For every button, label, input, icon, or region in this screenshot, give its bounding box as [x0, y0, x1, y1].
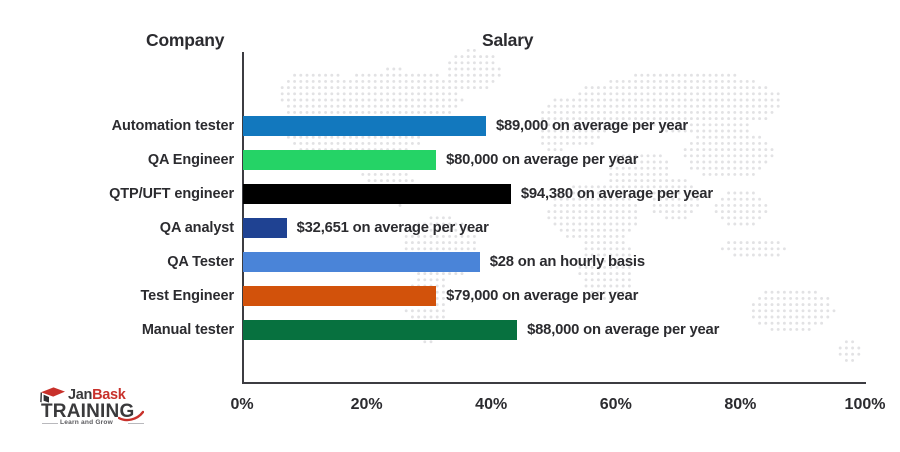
column-header-salary: Salary	[482, 30, 533, 51]
row-label-qa-tester: QA Tester	[167, 245, 234, 279]
bar-value-label: $89,000 on average per year	[496, 109, 688, 143]
logo-swoosh-icon	[118, 410, 144, 422]
bar-value-label: $32,651 on average per year	[297, 211, 489, 245]
table-row: Automation tester$89,000 on average per …	[0, 109, 900, 143]
bar-test-engineer	[243, 286, 436, 306]
row-label-manual-tester: Manual tester	[142, 313, 234, 347]
table-row: Test Engineer$79,000 on average per year	[0, 279, 900, 313]
x-tick-80: 80%	[724, 396, 756, 414]
row-label-automation-tester: Automation tester	[112, 109, 234, 143]
bar-value-label: $79,000 on average per year	[446, 279, 638, 313]
row-label-qa-analyst: QA analyst	[160, 211, 234, 245]
table-row: QTP/UFT engineer$94,380 on average per y…	[0, 177, 900, 211]
logo-tagline-rule-left	[42, 423, 58, 424]
salary-bar-chart: Company Salary Automation tester$89,000 …	[0, 0, 900, 452]
x-axis-line	[242, 382, 866, 384]
row-label-test-engineer: Test Engineer	[140, 279, 234, 313]
bar-value-label: $94,380 on average per year	[521, 177, 713, 211]
bar-value-label: $88,000 on average per year	[527, 313, 719, 347]
row-label-qtp-uft-engineer: QTP/UFT engineer	[109, 177, 234, 211]
table-row: QA Engineer$80,000 on average per year	[0, 143, 900, 177]
x-tick-20: 20%	[351, 396, 383, 414]
bar-qtp-uft-engineer	[243, 184, 511, 204]
logo-tagline: Learn and Grow	[60, 419, 113, 426]
bar-automation-tester	[243, 116, 486, 136]
bar-qa-tester	[243, 252, 480, 272]
x-tick-60: 60%	[600, 396, 632, 414]
table-row: Manual tester$88,000 on average per year	[0, 313, 900, 347]
bar-value-label: $28 on an hourly basis	[490, 245, 645, 279]
row-label-qa-engineer: QA Engineer	[148, 143, 234, 177]
x-tick-0: 0%	[230, 396, 253, 414]
bar-qa-analyst	[243, 218, 287, 238]
logo-tagline-rule-right	[128, 423, 144, 424]
table-row: QA analyst$32,651 on average per year	[0, 211, 900, 245]
column-header-company: Company	[146, 30, 224, 51]
janbask-training-logo[interactable]: JanBask TRAINING Learn and Grow	[40, 386, 148, 430]
table-row: QA Tester$28 on an hourly basis	[0, 245, 900, 279]
bar-manual-tester	[243, 320, 517, 340]
bar-value-label: $80,000 on average per year	[446, 143, 638, 177]
x-tick-40: 40%	[475, 396, 507, 414]
x-tick-100: 100%	[845, 396, 886, 414]
bar-qa-engineer	[243, 150, 436, 170]
